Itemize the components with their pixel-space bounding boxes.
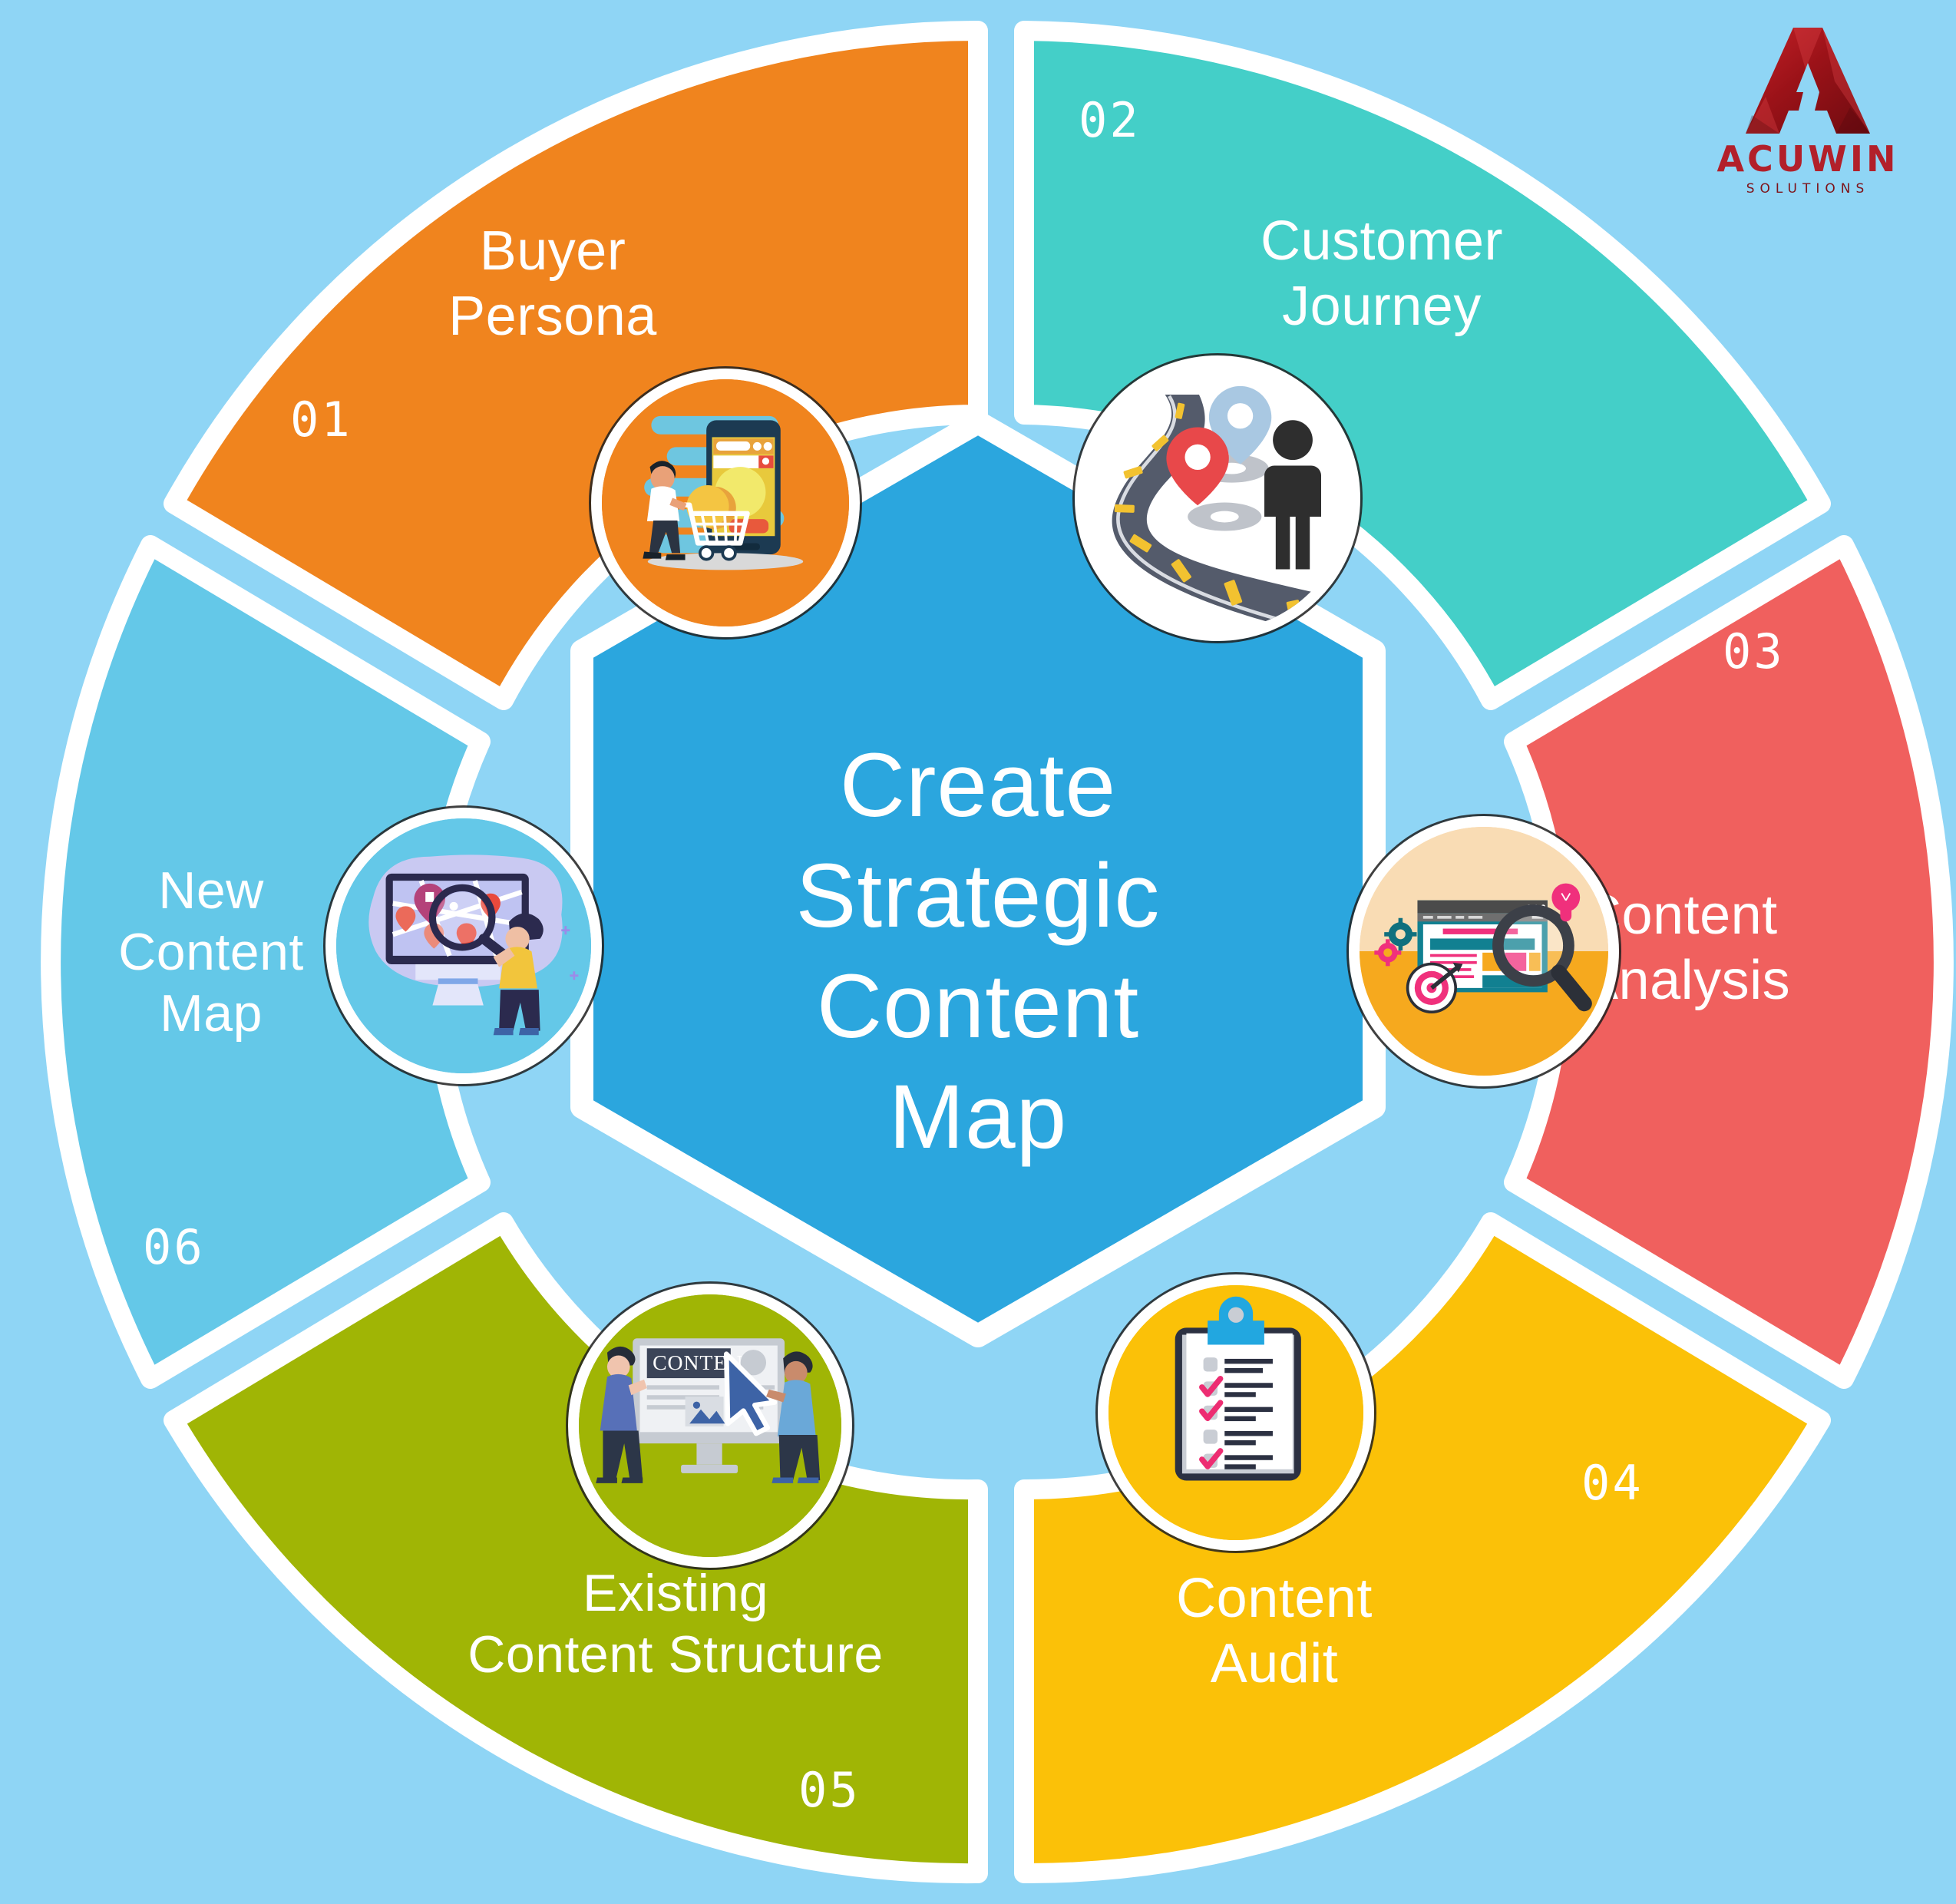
segment-03-number: 03 [1723, 623, 1785, 679]
segment-06-icon-circle[interactable] [325, 808, 602, 1084]
segment-01-icon-circle[interactable] [591, 369, 860, 637]
infographic-canvas: Create Strategic Content Map Buyer Perso… [0, 0, 1956, 1904]
segment-03-icon-circle[interactable] [1349, 816, 1619, 1086]
clipboard-checklist-icon [1109, 1285, 1363, 1540]
map-search-monitor-icon [336, 818, 591, 1073]
brand-logo[interactable]: ACUWIN SOLUTIONS [1681, 23, 1935, 200]
segment-04-icon-circle[interactable] [1098, 1274, 1374, 1551]
segment-05-number: 05 [798, 1762, 861, 1818]
road-map-pins-journey-icon [1085, 366, 1350, 630]
online-shopping-persona-icon [602, 379, 849, 626]
segment-01-number: 01 [290, 392, 352, 448]
acuwin-a-mark-icon [1735, 23, 1881, 138]
segment-04-number: 04 [1581, 1455, 1644, 1511]
segment-06-number: 06 [143, 1219, 205, 1275]
monitor-content-review-icon: CONTENT [579, 1294, 841, 1557]
logo-wordmark: ACUWIN [1716, 141, 1898, 177]
segment-02-icon-circle[interactable] [1075, 355, 1360, 641]
magnifier-analytics-icon [1360, 827, 1608, 1076]
logo-tagline: SOLUTIONS [1746, 181, 1870, 197]
center-title: Create Strategic Content Map [594, 676, 1362, 1228]
segment-05-icon-circle[interactable]: CONTENT [568, 1284, 852, 1568]
segment-02-number: 02 [1079, 92, 1141, 148]
